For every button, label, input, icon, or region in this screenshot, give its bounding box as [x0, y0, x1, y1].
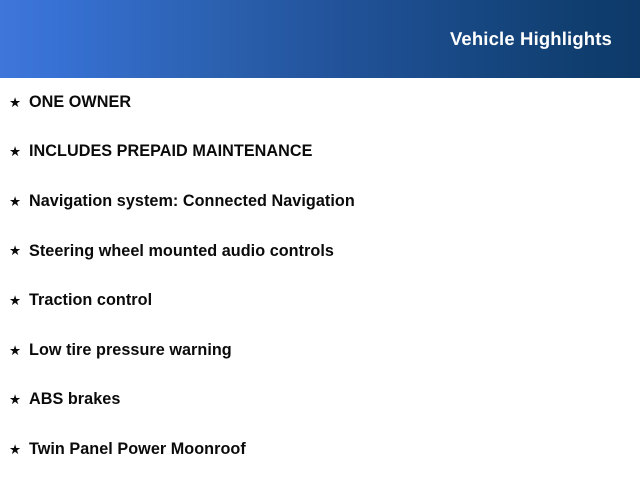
list-item-label: Navigation system: Connected Navigation: [29, 193, 355, 211]
list-item-label: ABS brakes: [29, 391, 120, 409]
list-item-label: Steering wheel mounted audio controls: [29, 243, 334, 261]
list-item: ★ Steering wheel mounted audio controls: [0, 227, 640, 277]
star-icon: ★: [9, 294, 29, 308]
star-icon: ★: [9, 344, 29, 358]
list-item-label: ONE OWNER: [29, 94, 131, 112]
star-icon: ★: [9, 96, 29, 110]
list-item-label: Traction control: [29, 292, 152, 310]
list-item: ★ ABS brakes: [0, 376, 640, 426]
list-item: ★ INCLUDES PREPAID MAINTENANCE: [0, 128, 640, 178]
header-banner: Vehicle Highlights: [0, 0, 640, 78]
star-icon: ★: [9, 244, 29, 258]
list-item: ★ Twin Panel Power Moonroof: [0, 425, 640, 475]
list-item: ★ Low tire pressure warning: [0, 326, 640, 376]
list-item-label: Low tire pressure warning: [29, 342, 232, 360]
list-item: ★ Navigation system: Connected Navigatio…: [0, 177, 640, 227]
page-title: Vehicle Highlights: [450, 30, 612, 49]
star-icon: ★: [9, 443, 29, 457]
list-item-label: INCLUDES PREPAID MAINTENANCE: [29, 143, 313, 161]
star-icon: ★: [9, 195, 29, 209]
list-item: ★ ONE OWNER: [0, 78, 640, 128]
star-icon: ★: [9, 145, 29, 159]
star-icon: ★: [9, 393, 29, 407]
vehicle-highlights-list: ★ ONE OWNER ★ INCLUDES PREPAID MAINTENAN…: [0, 78, 640, 480]
vehicle-highlights-page: Vehicle Highlights ★ ONE OWNER ★ INCLUDE…: [0, 0, 640, 480]
list-item-label: Twin Panel Power Moonroof: [29, 441, 246, 459]
list-item: ★ Traction control: [0, 276, 640, 326]
